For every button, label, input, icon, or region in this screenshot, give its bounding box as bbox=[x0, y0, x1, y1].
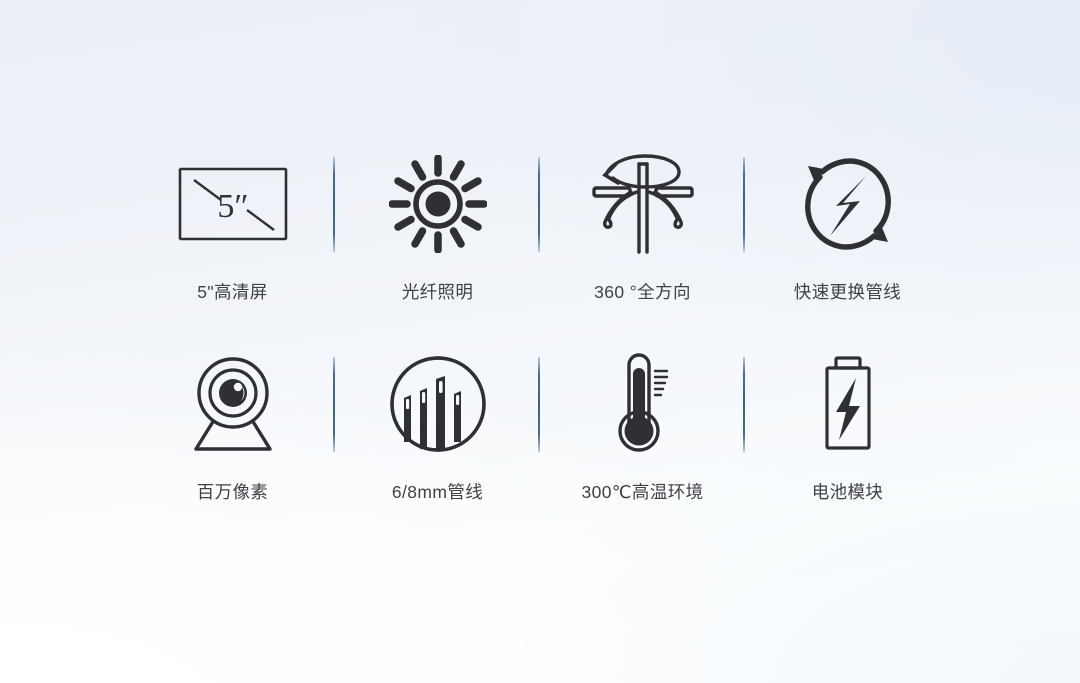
feature-label: 快速更换管线 bbox=[794, 282, 901, 303]
thermometer-icon bbox=[607, 340, 679, 468]
screen-size-value: 5″ bbox=[217, 188, 248, 225]
feature-item-battery[interactable]: 电池模块 bbox=[745, 340, 950, 540]
feature-label: 光纤照明 bbox=[402, 282, 474, 303]
sun-light-icon bbox=[389, 140, 487, 268]
feature-item-screen[interactable]: 5″ 5"高清屏 bbox=[130, 140, 335, 340]
feature-row-2: 百万像素 bbox=[130, 340, 950, 540]
feature-item-temperature[interactable]: 300℃高温环境 bbox=[540, 340, 745, 540]
feature-item-probe-diameter[interactable]: 6/8mm管线 bbox=[335, 340, 540, 540]
feature-label: 6/8mm管线 bbox=[392, 482, 483, 503]
screen-size-icon: 5″ bbox=[177, 140, 289, 268]
probe-diameter-icon bbox=[388, 340, 488, 468]
feature-label: 360 °全方向 bbox=[594, 282, 691, 303]
feature-item-rotation[interactable]: 360 °全方向 bbox=[540, 140, 745, 340]
feature-item-illumination[interactable]: 光纤照明 bbox=[335, 140, 540, 340]
feature-label: 5"高清屏 bbox=[197, 282, 267, 303]
feature-label: 百万像素 bbox=[197, 482, 269, 503]
quick-swap-refresh-icon bbox=[796, 140, 900, 268]
feature-label: 电池模块 bbox=[812, 482, 884, 503]
feature-row-1: 5″ 5"高清屏 bbox=[130, 140, 950, 340]
feature-grid: 5″ 5"高清屏 bbox=[130, 140, 950, 540]
feature-label: 300℃高温环境 bbox=[581, 482, 703, 503]
battery-bolt-icon bbox=[815, 340, 881, 468]
camera-lens-icon bbox=[184, 340, 282, 468]
feature-item-quick-swap[interactable]: 快速更换管线 bbox=[745, 140, 950, 340]
feature-item-megapixel[interactable]: 百万像素 bbox=[130, 340, 335, 540]
rotation-360-icon bbox=[587, 140, 699, 268]
